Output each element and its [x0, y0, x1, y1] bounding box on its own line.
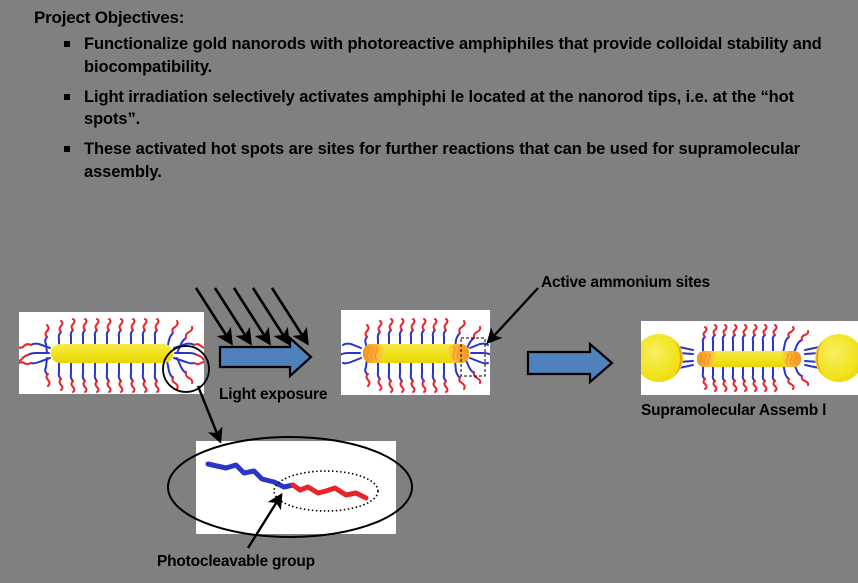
gold-nanorod: [51, 344, 173, 363]
list-item: These activated hot spots are sites for …: [60, 138, 840, 184]
caption-active-ammonium-sites: Active ammonium sites: [541, 274, 710, 292]
slide-canvas: Project Objectives: Functionalize gold n…: [0, 0, 858, 583]
caption-photocleavable-group: Photocleavable group: [157, 553, 315, 571]
amphiphile-blue-segment: [208, 464, 293, 487]
panel-pristine-nanorod: [19, 312, 204, 394]
list-item: Light irradiation selectively activates …: [60, 86, 840, 132]
gold-sphere-right: [815, 334, 858, 382]
list-item-label: Light irradiation selectively activates …: [84, 88, 794, 129]
gold-sphere-left: [641, 334, 683, 382]
panel-supramolecular-assembly: [641, 321, 858, 395]
photocleavable-amphiphile-graphic: [196, 441, 396, 534]
supramolecular-assembly-graphic: [641, 321, 858, 395]
amphiphile-red-segment: [293, 485, 366, 498]
hot-spot-left: [363, 344, 385, 363]
page-title: Project Objectives:: [34, 8, 184, 28]
caption-supramolecular-assembly: Supramolecular Assemb l: [641, 402, 826, 420]
list-item-label: These activated hot spots are sites for …: [84, 140, 800, 181]
square-bullet-icon: [64, 41, 70, 47]
list-item-label: Functionalize gold nanorods with photore…: [84, 35, 822, 76]
light-ray-arrows: [196, 288, 304, 338]
caption-light-exposure: Light exposure: [219, 386, 327, 404]
square-bullet-icon: [64, 94, 70, 100]
square-bullet-icon: [64, 146, 70, 152]
list-item: Functionalize gold nanorods with photore…: [60, 33, 840, 79]
irradiated-nanorod-graphic: [341, 310, 490, 395]
panel-photocleavable-amphiphile: [196, 441, 396, 534]
hot-spot-left: [697, 351, 717, 367]
pristine-nanorod-graphic: [19, 312, 204, 394]
objectives-list: Functionalize gold nanorods with photore…: [60, 33, 840, 191]
active-sites-leader-line: [492, 288, 538, 338]
panel-irradiated-nanorod: [341, 310, 490, 395]
assembly-arrow: [528, 344, 612, 382]
light-exposure-arrow: [220, 338, 311, 376]
